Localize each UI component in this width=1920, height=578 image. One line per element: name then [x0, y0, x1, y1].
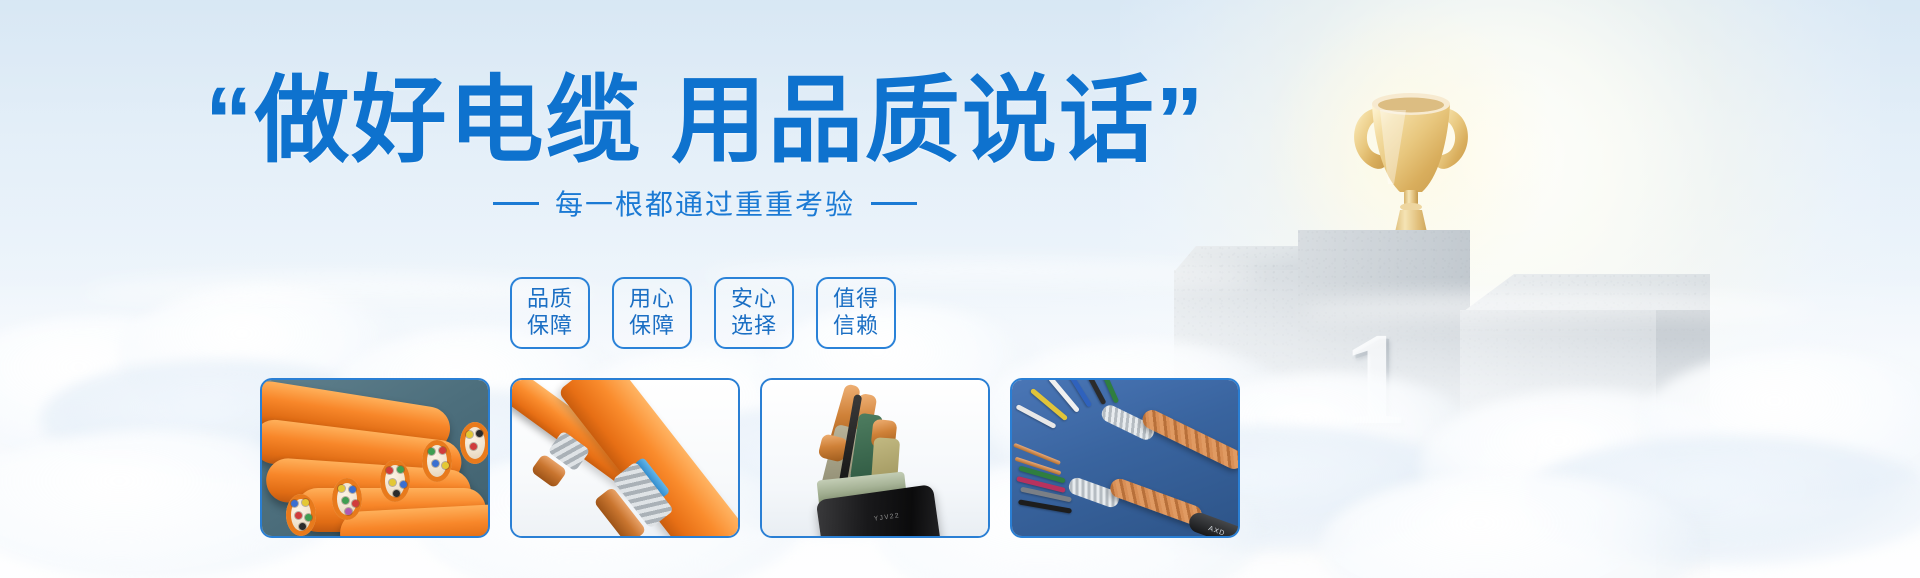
- banner-subtitle-text: 每一根都通过重重考验: [555, 183, 855, 223]
- rule-right: [871, 202, 917, 205]
- badge-worryfree-choice[interactable]: 安心 选择: [714, 277, 794, 349]
- badge-trustworthy[interactable]: 值得 信赖: [816, 277, 896, 349]
- trophy-icon: [1336, 64, 1486, 254]
- banner-subtitle: 每一根都通过重重考验: [420, 183, 990, 223]
- badge-line-2: 保障: [527, 313, 573, 340]
- product-thumbnail-3[interactable]: YJV22: [760, 378, 990, 538]
- badge-line-2: 保障: [629, 313, 675, 340]
- black-power-cable-image: YJV22: [762, 380, 988, 536]
- badge-line-1: 值得: [833, 286, 879, 313]
- rule-left: [493, 202, 539, 205]
- braided-shield-cable-image: AXD: [1012, 380, 1238, 536]
- product-thumbnails: YJV22: [260, 378, 1240, 538]
- feature-badges: 品质 保障 用心 保障 安心 选择 值得 信赖: [510, 277, 896, 349]
- badge-line-1: 品质: [527, 286, 573, 313]
- badge-line-1: 用心: [629, 286, 675, 313]
- promo-banner: 2 1 3: [0, 0, 1920, 578]
- page-title: “做好电缆 用品质说话”: [205, 72, 1205, 172]
- product-thumbnail-1[interactable]: [260, 378, 490, 538]
- orange-shielded-cable-image: [512, 380, 738, 536]
- badge-quality-guarantee[interactable]: 品质 保障: [510, 277, 590, 349]
- product-thumbnail-4[interactable]: AXD: [1010, 378, 1240, 538]
- badge-dedication-guarantee[interactable]: 用心 保障: [612, 277, 692, 349]
- product-thumbnail-2[interactable]: [510, 378, 740, 538]
- orange-multicore-cable-image: [262, 380, 488, 536]
- badge-line-2: 信赖: [833, 313, 879, 340]
- badge-line-1: 安心: [731, 286, 777, 313]
- badge-line-2: 选择: [731, 313, 777, 340]
